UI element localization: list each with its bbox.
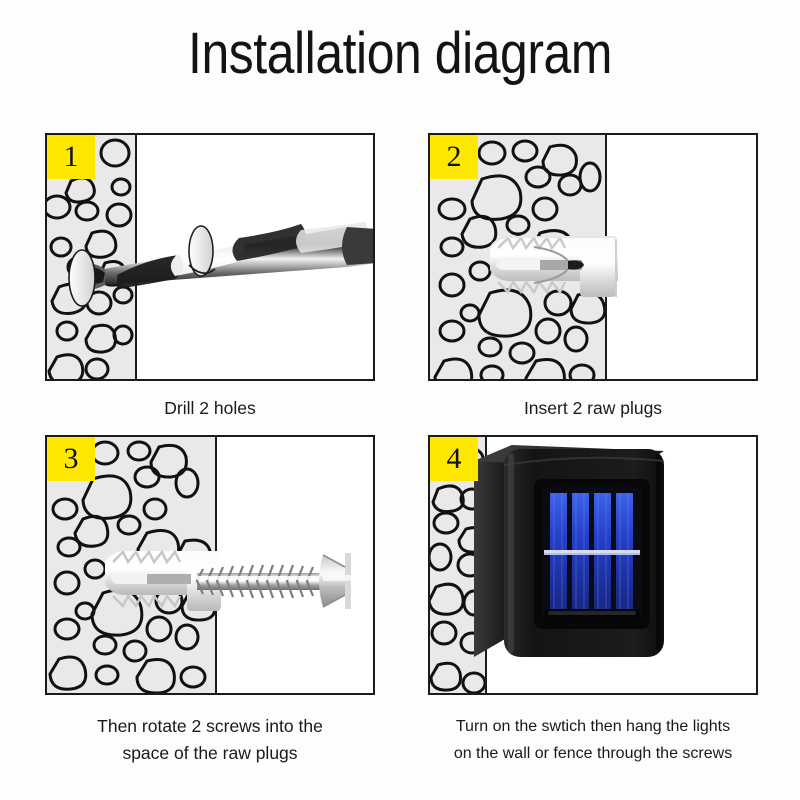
step-4-caption: Turn on the swtich then hang the lights …: [428, 713, 758, 767]
caption-line: Drill 2 holes: [45, 395, 375, 422]
caption-line: Then rotate 2 screws into the: [45, 713, 375, 740]
step-2-panel: 2: [428, 133, 758, 381]
step-4-badge: 4: [430, 437, 478, 481]
step-3-badge: 3: [47, 437, 95, 481]
step-2-caption: Insert 2 raw plugs: [428, 395, 758, 422]
caption-line: Insert 2 raw plugs: [428, 395, 758, 422]
caption-line: space of the raw plugs: [45, 740, 375, 767]
step-2-badge: 2: [430, 135, 478, 179]
step-3-caption: Then rotate 2 screws into the space of t…: [45, 713, 375, 767]
steps-grid: 1 Drill 2 holes: [0, 133, 800, 800]
caption-line: Turn on the swtich then hang the lights: [428, 713, 758, 740]
step-3-panel: 3: [45, 435, 375, 695]
page-title: Installation diagram: [56, 20, 744, 87]
step-1: 1 Drill 2 holes: [45, 133, 375, 381]
step-3: 3 Then rotate 2 screws into the space of…: [45, 435, 375, 695]
step-1-panel: 1: [45, 133, 375, 381]
caption-line: on the wall or fence through the screws: [428, 740, 758, 767]
step-1-caption: Drill 2 holes: [45, 395, 375, 422]
step-2: 2 Insert 2 raw plugs: [428, 133, 758, 381]
step-4-panel: 4: [428, 435, 758, 695]
step-1-badge: 1: [47, 135, 95, 179]
step-4: 4 Turn on the swtich then hang the light…: [428, 435, 758, 695]
